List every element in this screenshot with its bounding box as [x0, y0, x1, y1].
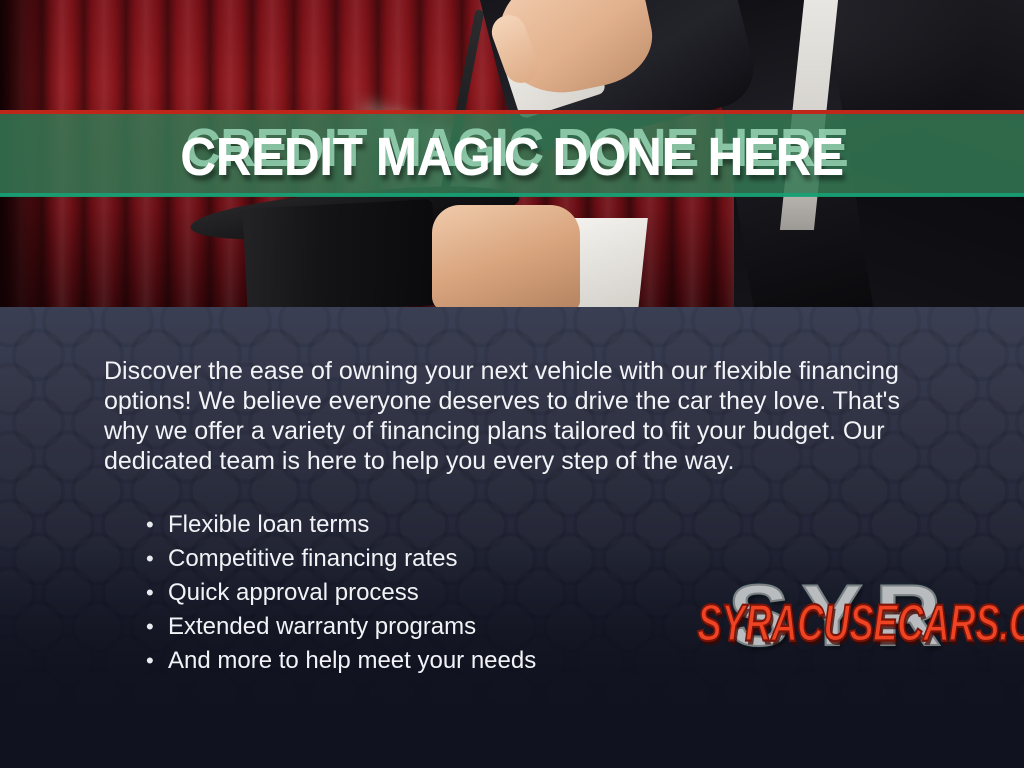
list-item: Flexible loan terms	[146, 508, 846, 542]
logo-wordmark: SYRACUSECARS.COM	[697, 593, 983, 654]
headline: CREDIT MAGIC DONE HERE	[41, 118, 983, 196]
magician-hand-bottom	[432, 205, 580, 308]
top-hat-crown	[242, 199, 437, 308]
syracusecars-logo[interactable]: SYR SYRACUSECARS.COM	[700, 566, 980, 686]
intro-paragraph: Discover the ease of owning your next ve…	[104, 356, 934, 476]
promotional-slide: CREDIT MAGIC DONE HERE Discover the ease…	[0, 0, 1024, 768]
